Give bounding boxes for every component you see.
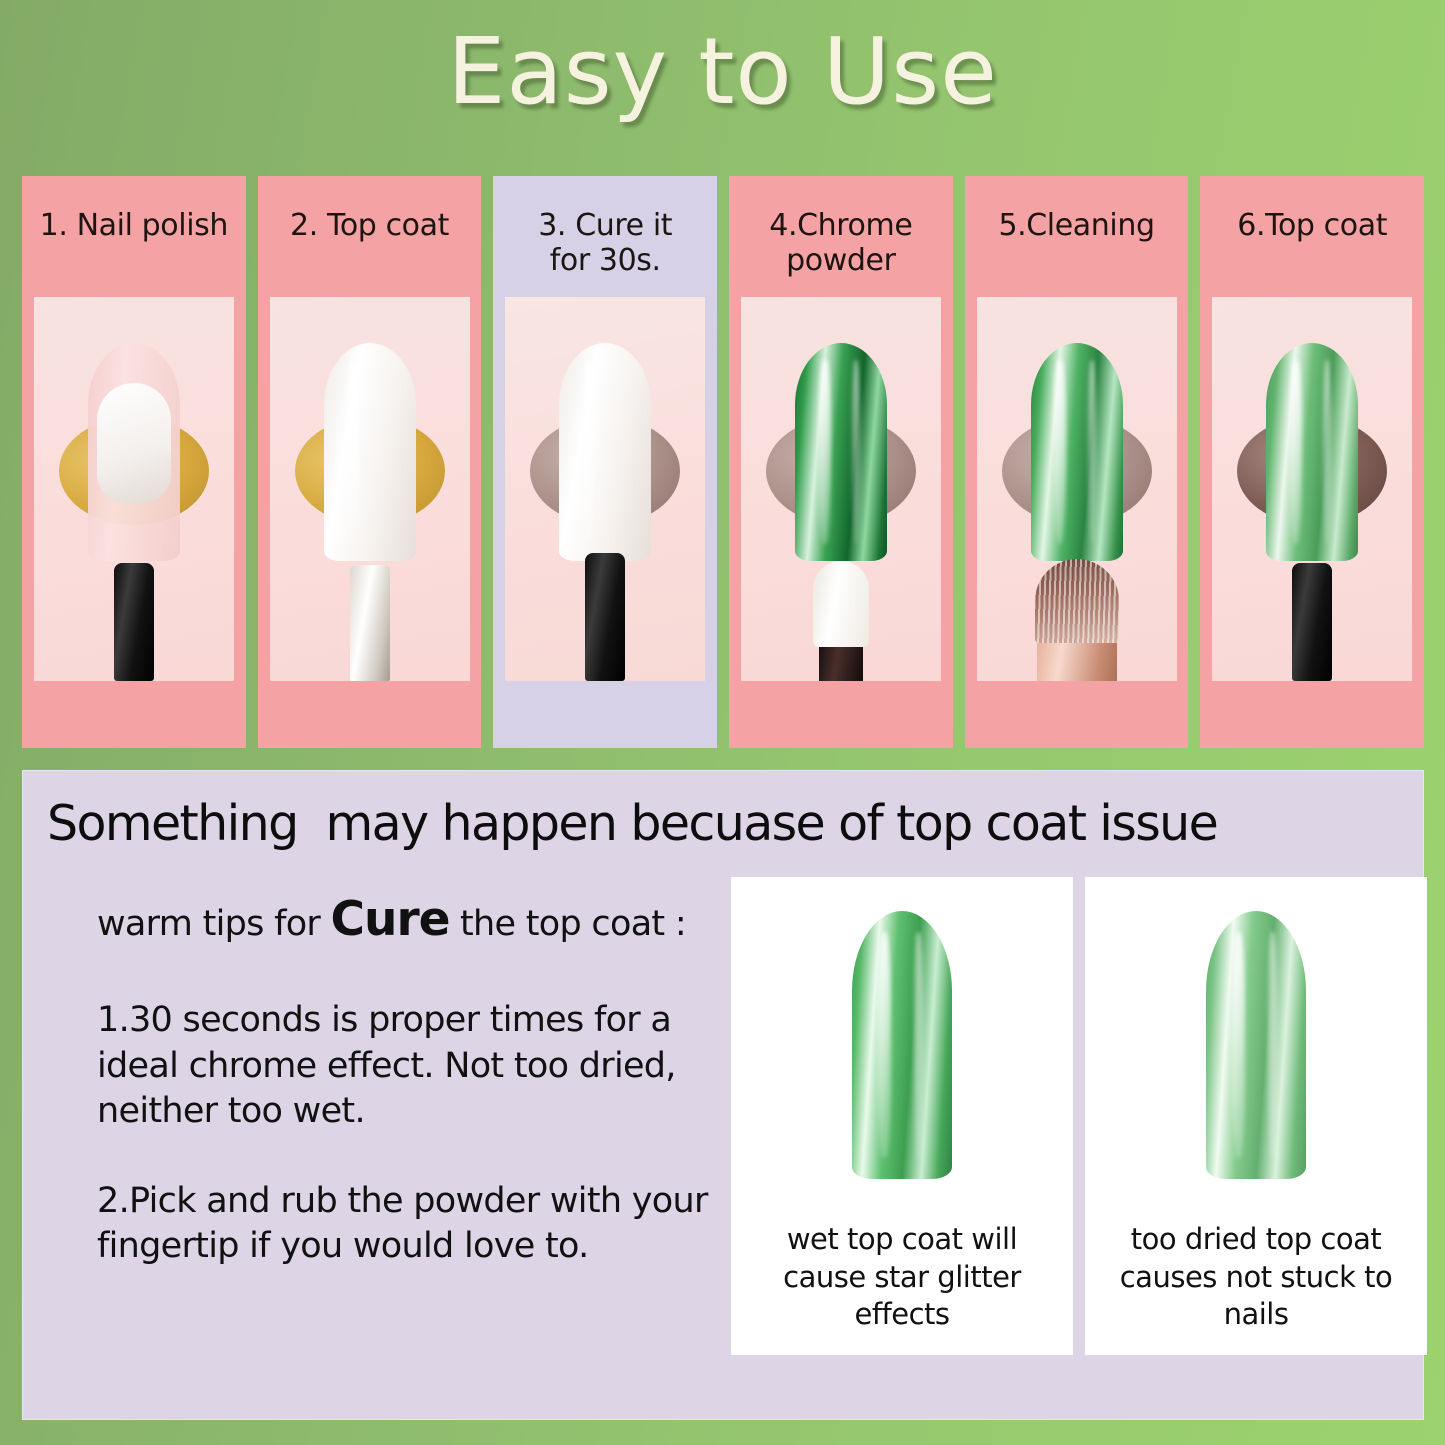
tips-lead-after: the top coat : [450, 904, 686, 944]
nail-highlight [347, 360, 359, 543]
brush-bristles [1035, 559, 1119, 643]
comparison-caption-dry: too dried top coat causes not stuck to n… [1085, 1217, 1427, 1355]
step-photo-4 [741, 297, 941, 681]
sponge-tip [813, 561, 869, 647]
step-card-4: 4.Chrome powder [729, 176, 953, 748]
polish-bottle-cap-icon [1292, 563, 1332, 681]
white-polish-smear [97, 383, 171, 503]
nail-tip-white [324, 343, 416, 561]
nail-vivid-green-chrome [852, 911, 952, 1179]
tips-panel: Something may happen becuase of top coat… [22, 770, 1424, 1420]
nail-pale-green-chrome [1206, 911, 1306, 1179]
nail-highlight [1054, 360, 1066, 543]
tips-cure-emphasis: Cure [331, 892, 450, 947]
step-card-2: 2. Top coat [258, 176, 482, 748]
step-label-2: 2. Top coat [258, 176, 482, 288]
comparison-card-wet: wet top coat will cause star glitter eff… [731, 877, 1073, 1355]
nail-highlight-secondary [1268, 932, 1277, 1157]
steps-strip: 1. Nail polish 2. Top coat 3. Cure it fo… [22, 176, 1424, 748]
nail-highlight [1232, 932, 1245, 1157]
brush-ferrule [1037, 643, 1117, 681]
sponge-applicator-icon [813, 561, 869, 681]
nail-tip-chrome-mid [1031, 343, 1123, 561]
tip-item-1: 1.30 seconds is proper times for a ideal… [97, 998, 737, 1135]
step-card-3: 3. Cure it for 30s. [493, 176, 717, 748]
step-photo-6 [1212, 297, 1412, 681]
makeup-brush-icon [1035, 559, 1119, 681]
polish-bottle-cap-icon [585, 553, 625, 681]
infographic-page: Easy to Use 1. Nail polish 2. Top coat [0, 0, 1445, 1445]
nail-tip-chrome-dark [795, 343, 887, 561]
step-label-6: 6.Top coat [1200, 176, 1424, 288]
nail-highlight [819, 360, 831, 543]
warm-tips-block: warm tips for Cure the top coat : 1.30 s… [97, 889, 737, 1314]
step-card-5: 5.Cleaning [965, 176, 1189, 748]
step-photo-3 [505, 297, 705, 681]
step-label-1: 1. Nail polish [22, 176, 246, 288]
polish-drip-icon [350, 565, 390, 681]
nail-highlight-secondary [914, 932, 923, 1157]
panel-heading: Something may happen becuase of top coat… [47, 797, 1407, 851]
nail-tip-cured [559, 343, 651, 561]
nail-highlight [878, 932, 891, 1157]
step-label-3: 3. Cure it for 30s. [493, 176, 717, 288]
sponge-handle [819, 647, 863, 681]
nail-highlight-secondary [1088, 360, 1096, 543]
step-card-1: 1. Nail polish [22, 176, 246, 748]
comparison-image-dry [1085, 877, 1427, 1217]
tips-lead: warm tips for Cure the top coat : [97, 889, 737, 950]
comparison-caption-wet: wet top coat will cause star glitter eff… [731, 1217, 1073, 1355]
step-photo-5 [977, 297, 1177, 681]
comparison-card-dry: too dried top coat causes not stuck to n… [1085, 877, 1427, 1355]
comparison-image-wet [731, 877, 1073, 1217]
nail-highlight-secondary [1323, 360, 1331, 543]
nail-highlight [1290, 360, 1302, 543]
nail-tip-chrome-soft [1266, 343, 1358, 561]
nail-highlight [583, 360, 595, 543]
nail-highlight-secondary [852, 360, 860, 543]
tips-lead-before: warm tips for [97, 904, 331, 944]
step-label-5: 5.Cleaning [965, 176, 1189, 288]
polish-bottle-cap-icon [114, 563, 154, 681]
step-card-6: 6.Top coat [1200, 176, 1424, 748]
step-photo-2 [270, 297, 470, 681]
tip-item-2: 2.Pick and rub the powder with your fing… [97, 1179, 737, 1270]
step-photo-1 [34, 297, 234, 681]
step-label-4: 4.Chrome powder [729, 176, 953, 288]
page-title: Easy to Use [0, 14, 1445, 129]
